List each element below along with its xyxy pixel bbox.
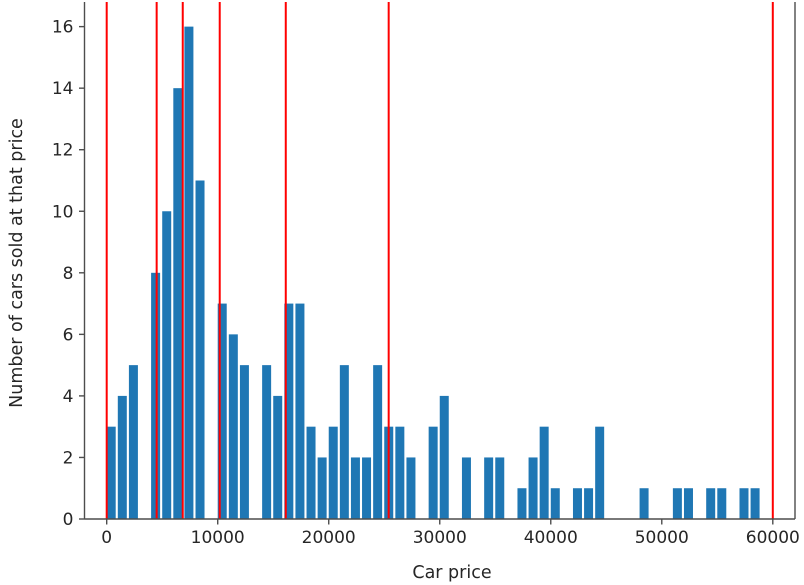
y-tick-label: 16: [52, 18, 74, 38]
histogram-bar: [273, 396, 282, 519]
histogram-bar: [351, 457, 360, 519]
y-tick-label: 8: [63, 264, 74, 284]
histogram-bar: [517, 488, 526, 519]
y-tick-label: 14: [52, 79, 74, 99]
histogram-bar: [162, 211, 171, 519]
x-tick-label: 30000: [413, 528, 467, 548]
histogram-bars: [107, 27, 760, 519]
x-tick-label: 10000: [191, 528, 245, 548]
x-tick-label: 20000: [302, 528, 356, 548]
x-axis-label: Car price: [412, 563, 491, 583]
histogram-bar: [529, 457, 538, 519]
histogram-bar: [395, 427, 404, 519]
histogram-bar: [318, 457, 327, 519]
x-axis-ticks: 0100002000030000400005000060000: [101, 519, 800, 548]
y-tick-label: 0: [63, 510, 74, 530]
x-tick-label: 50000: [635, 528, 689, 548]
y-tick-label: 2: [63, 448, 74, 468]
histogram-bar: [107, 427, 116, 519]
y-axis-ticks: 0246810121416: [52, 18, 85, 530]
histogram-bar: [151, 273, 160, 519]
histogram-bar: [640, 488, 649, 519]
histogram-bar: [118, 396, 127, 519]
y-tick-label: 10: [52, 202, 74, 222]
histogram-bar: [184, 27, 193, 519]
x-tick-label: 60000: [746, 528, 800, 548]
y-tick-label: 12: [52, 141, 74, 161]
histogram-bar: [229, 334, 238, 519]
histogram-bar: [429, 427, 438, 519]
histogram-bar: [673, 488, 682, 519]
histogram-bar: [484, 457, 493, 519]
histogram-bar: [406, 457, 415, 519]
histogram-bar: [307, 427, 316, 519]
y-tick-label: 6: [63, 325, 74, 345]
y-tick-label: 4: [63, 387, 74, 407]
chart-canvas: 0100002000030000400005000060000 02468101…: [0, 0, 804, 585]
histogram-bar: [362, 457, 371, 519]
histogram-bar: [551, 488, 560, 519]
histogram-bar: [440, 396, 449, 519]
histogram-bar: [751, 488, 760, 519]
histogram-bar: [540, 427, 549, 519]
histogram-bar: [462, 457, 471, 519]
histogram-bar: [173, 88, 182, 519]
histogram-bar: [295, 304, 304, 519]
histogram-bar: [717, 488, 726, 519]
histogram-bar: [739, 488, 748, 519]
histogram-bar: [495, 457, 504, 519]
histogram-bar: [684, 488, 693, 519]
histogram-bar: [584, 488, 593, 519]
y-axis-label: Number of cars sold at that price: [7, 118, 27, 408]
histogram-bar: [329, 427, 338, 519]
histogram-bar: [573, 488, 582, 519]
histogram-figure: 0100002000030000400005000060000 02468101…: [0, 0, 804, 585]
histogram-bar: [129, 365, 138, 519]
histogram-bar: [196, 180, 205, 519]
histogram-bar: [240, 365, 249, 519]
histogram-bar: [340, 365, 349, 519]
x-tick-label: 0: [101, 528, 112, 548]
histogram-bar: [706, 488, 715, 519]
histogram-bar: [262, 365, 271, 519]
histogram-bar: [373, 365, 382, 519]
histogram-bar: [595, 427, 604, 519]
x-tick-label: 40000: [524, 528, 578, 548]
